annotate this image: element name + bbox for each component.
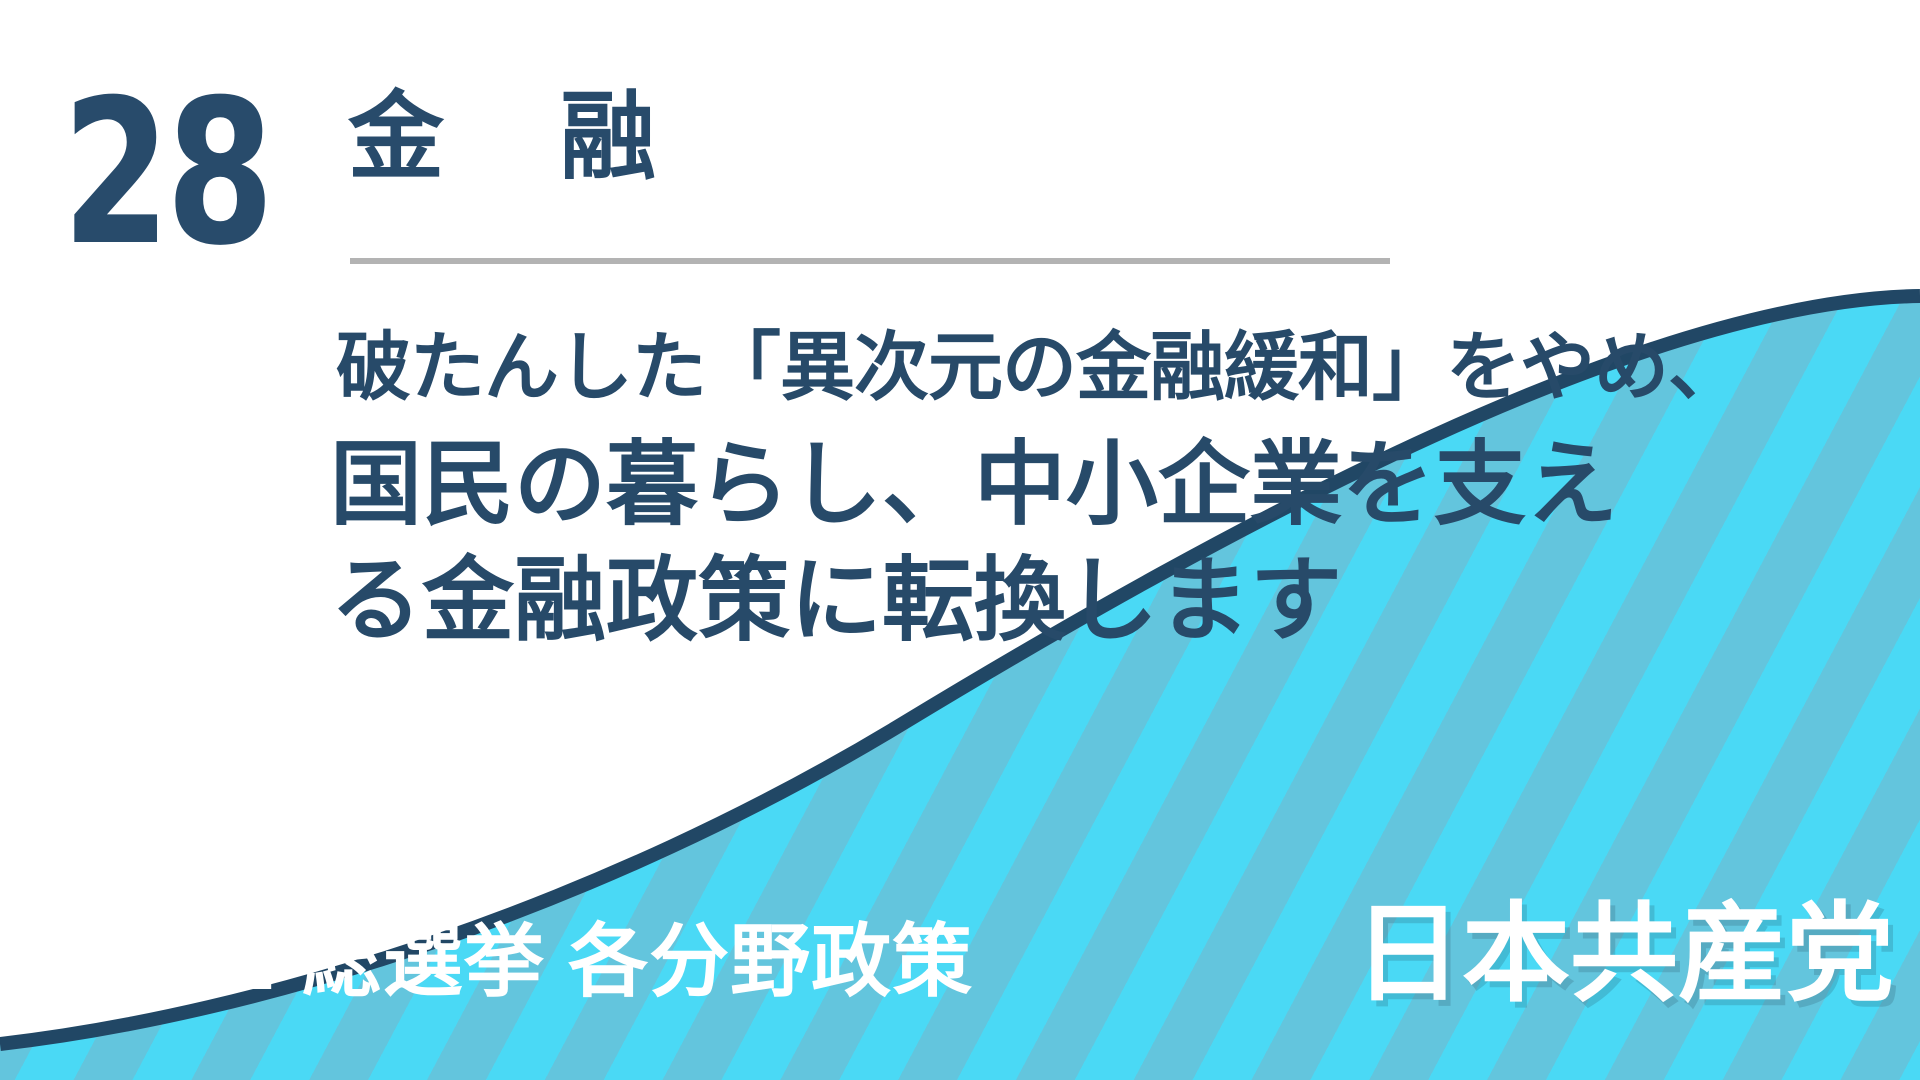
campaign-footer: 2021 総選挙 各分野政策 (48, 922, 973, 1002)
policy-line-2: 国民の暮らし、中小企業を支え (330, 439, 1780, 531)
campaign-label: 総選挙 各分野政策 (302, 917, 973, 1006)
page-title: 金 融 (348, 86, 666, 190)
policy-statement: 破たんした「異次元の金融緩和」をやめ、 国民の暮らし、中小企業を支え る金融政策… (340, 330, 1780, 647)
campaign-year: 2021 (48, 915, 279, 1008)
policy-line-1: 破たんした「異次元の金融緩和」をやめ、 (336, 330, 1780, 405)
policy-slide: 28 金 融 破たんした「異次元の金融緩和」をやめ、 国民の暮らし、中小企業を支… (0, 0, 1920, 1080)
title-divider (350, 258, 1390, 264)
policy-line-3: る金融政策に転換します (330, 555, 1780, 647)
party-name-logo: 日本共産党 (1354, 900, 1894, 1008)
section-number: 28 (62, 74, 270, 274)
